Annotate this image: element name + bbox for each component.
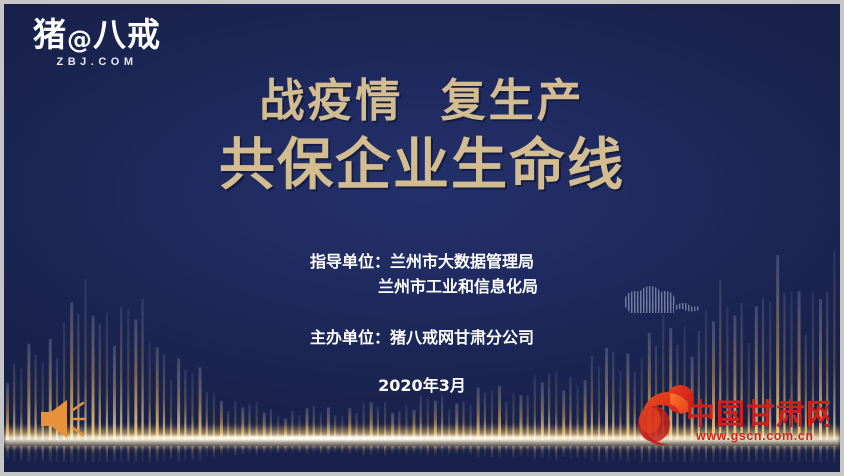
logo-char-bajie: 八戒 [93,15,161,54]
guidance-unit-line-1: 指导单位：兰州市大数据管理局 [4,250,840,275]
svg-text:www.gscn.com.cn: www.gscn.com.cn [695,429,814,443]
speaker-icon [37,396,95,442]
page-title-line-2: 共保企业生命线 [4,132,840,199]
gscn-name-text: 中国甘肃网 [686,397,830,431]
gscn-watermark: 中国甘肃网 www.gscn.com.cn [624,384,830,458]
credits-block: 指导单位：兰州市大数据管理局 兰州市工业和信息化局 主办单位：猪八戒网甘肃分公司… [4,250,840,396]
gscn-url-text: www.gscn.com.cn [695,429,814,443]
poster-canvas: 猪@八戒 ZBJ.COM 战疫情 复生产 共保企业生命线 指导单位：兰州市大数据… [0,0,844,476]
guidance-unit-line-2: 兰州市工业和信息化局 [4,275,840,300]
logo-char-zhu: 猪 [33,15,67,54]
zbj-logo: 猪@八戒 ZBJ.COM [32,18,162,68]
logo-at-icon: @ [67,27,93,53]
page-title-line-1: 战疫情 复生产 [4,76,840,126]
title-block: 战疫情 复生产 共保企业生命线 [4,76,840,200]
credits-spacer [4,300,840,326]
organizer-unit-line: 主办单位：猪八戒网甘肃分公司 [4,326,840,351]
logo-domain: ZBJ.COM [32,56,162,68]
logo-brand-text: 猪@八戒 [32,18,162,53]
svg-text:中国甘肃网: 中国甘肃网 [686,397,830,431]
